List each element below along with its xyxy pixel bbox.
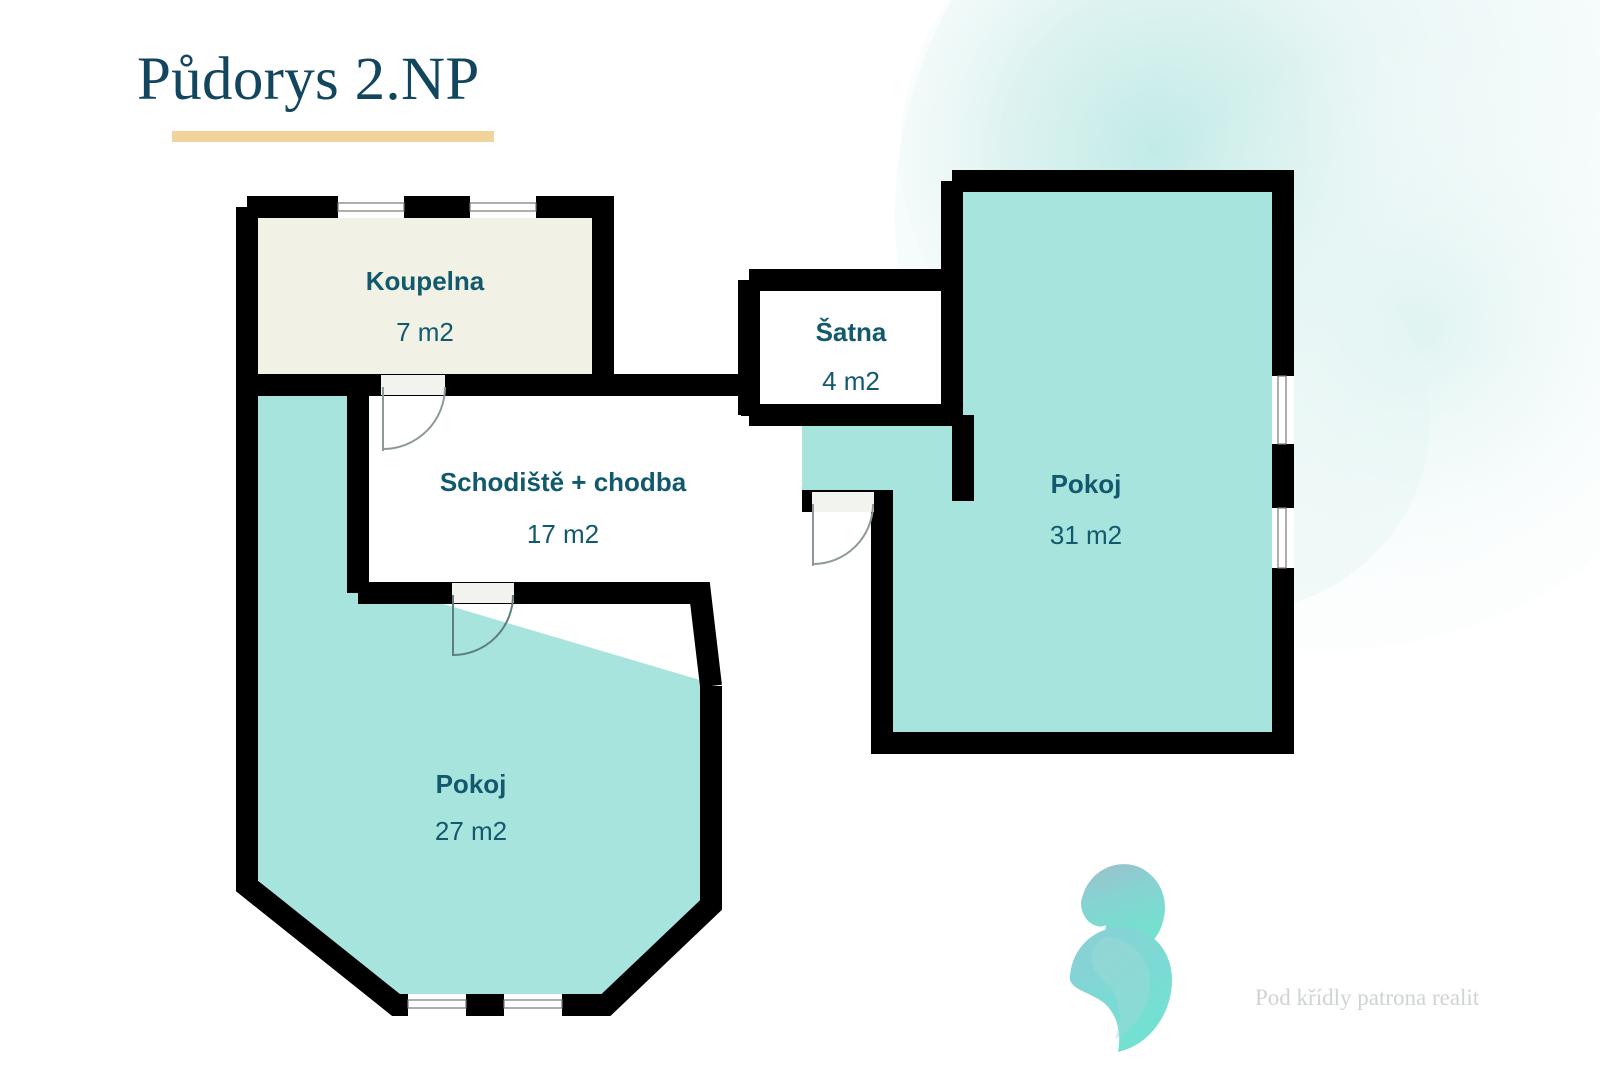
floorplan-drawing: Koupelna 7 m2 Šatna 4 m2 Schodiště + cho… (0, 0, 1600, 1066)
title-block: Půdorys 2.NP (137, 48, 494, 142)
window-koupelna-1 (338, 196, 404, 218)
room-label-satna: Šatna (816, 317, 887, 347)
title-underline-bar (172, 131, 494, 142)
room-area-pokoj-bottom-left: 27 m2 (435, 816, 507, 846)
room-label-pokoj-bottom-left: Pokoj (436, 769, 507, 799)
page-title: Půdorys 2.NP (137, 48, 494, 112)
wing-logo-icon (1060, 845, 1210, 1055)
door-satna (812, 492, 874, 566)
room-area-koupelna: 7 m2 (396, 317, 454, 347)
room-label-koupelna: Koupelna (366, 266, 485, 296)
wall-patch-chodba-right (741, 404, 763, 416)
room-label-pokoj-right: Pokoj (1051, 469, 1122, 499)
wall-patch-satna-right (941, 393, 963, 415)
window-bottom-2 (504, 994, 562, 1016)
window-koupelna-2 (470, 196, 536, 218)
window-bottom-1 (408, 994, 466, 1016)
brand-tagline: Pod křídly patrona realit (1255, 985, 1479, 1011)
room-label-schodiste-chodba: Schodiště + chodba (440, 467, 687, 497)
room-area-pokoj-right: 31 m2 (1050, 520, 1122, 550)
room-area-satna: 4 m2 (822, 366, 880, 396)
window-right-1 (1272, 376, 1294, 444)
room-area-schodiste-chodba: 17 m2 (527, 519, 599, 549)
room-shape-koupelna (258, 218, 592, 384)
window-right-2 (1272, 508, 1294, 568)
